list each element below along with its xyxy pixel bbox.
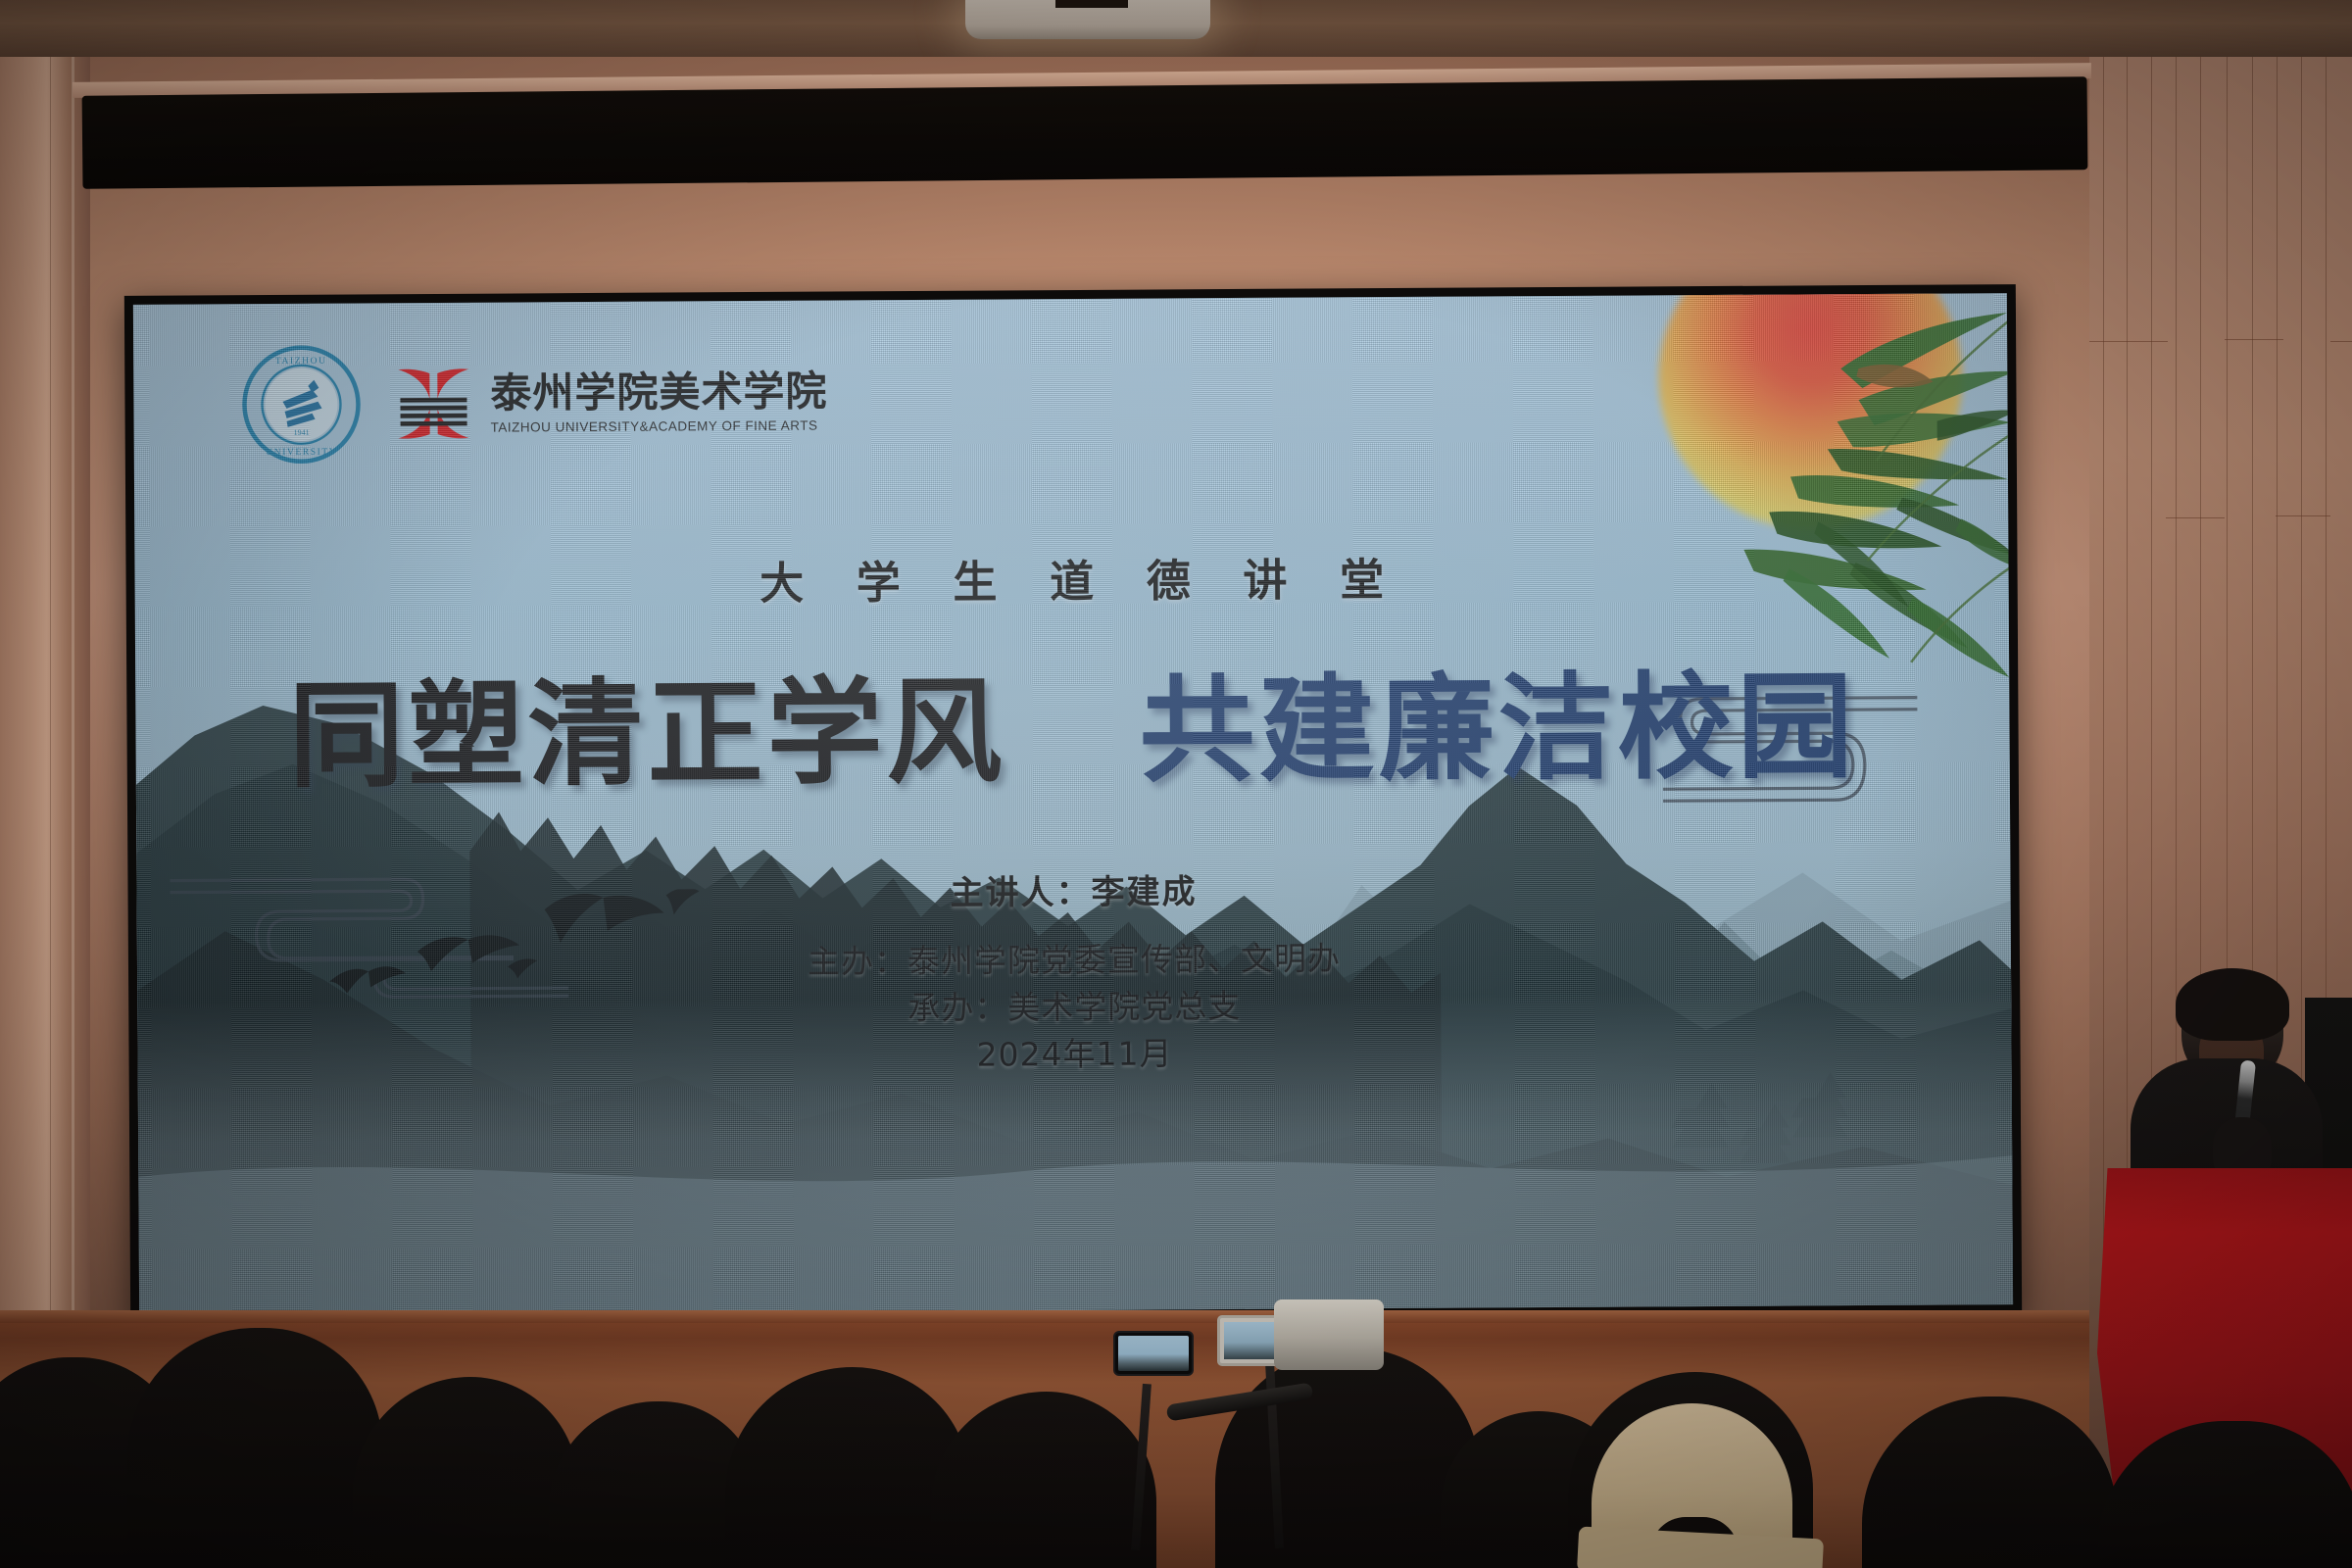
led-screen-bezel: 1941 UNIVERSITY TAIZHOU — [124, 284, 2022, 1325]
taizhou-university-seal-icon: 1941 UNIVERSITY TAIZHOU — [241, 344, 362, 465]
academy-logo: 泰州学院美术学院 TAIZHOU UNIVERSITY&ACADEMY OF F… — [394, 364, 827, 443]
audience-head — [127, 1328, 382, 1568]
lecture-hall-scene: 1941 UNIVERSITY TAIZHOU — [0, 0, 2352, 1568]
butterfly-mark-icon — [394, 366, 472, 442]
academy-name-cn: 泰州学院美术学院 — [490, 370, 827, 414]
slide-organizers: 主办：泰州学院党委宣传部、文明办 承办：美术学院党总支 2024年11月 — [137, 932, 2012, 1085]
ceiling-light-mount — [1055, 0, 1128, 8]
audience-head — [353, 1377, 578, 1568]
presenter-hair — [2176, 968, 2289, 1041]
tripod-leg — [1131, 1384, 1151, 1550]
svg-text:1941: 1941 — [294, 428, 310, 437]
wall-pilaster-left — [0, 57, 90, 1448]
headline-part-1: 同塑清正学风 — [288, 662, 1006, 803]
slide-headline: 同塑清正学风 共建廉洁校园 — [135, 631, 2010, 810]
headline-part-2: 共建廉洁校园 — [1139, 658, 1857, 798]
svg-text:TAIZHOU: TAIZHOU — [275, 357, 327, 367]
smartphone-on-tripod[interactable] — [1113, 1331, 1194, 1376]
slide-logo-row: 1941 UNIVERSITY TAIZHOU — [241, 342, 828, 465]
audience-head — [1862, 1396, 2117, 1568]
camcorder-on-tripod[interactable] — [1274, 1299, 1384, 1370]
slide-kicker: 大 学 生 道 德 讲 堂 — [134, 540, 2008, 615]
shotgun-microphone — [1166, 1382, 1314, 1421]
slide-content: 1941 UNIVERSITY TAIZHOU — [133, 293, 2013, 1316]
led-screen[interactable]: 1941 UNIVERSITY TAIZHOU — [133, 293, 2013, 1316]
organizer-line-3: 2024年11月 — [137, 1027, 2011, 1084]
dark-banner-board — [82, 76, 2088, 189]
phone-screen — [1118, 1336, 1189, 1371]
audience-head — [2097, 1421, 2352, 1568]
academy-name-en: TAIZHOU UNIVERSITY&ACADEMY OF FINE ARTS — [491, 418, 828, 434]
recording-rig — [1068, 1296, 1480, 1568]
svg-text:UNIVERSITY: UNIVERSITY — [266, 448, 337, 458]
slide-speaker-line: 主讲人：李建成 — [136, 859, 2010, 919]
